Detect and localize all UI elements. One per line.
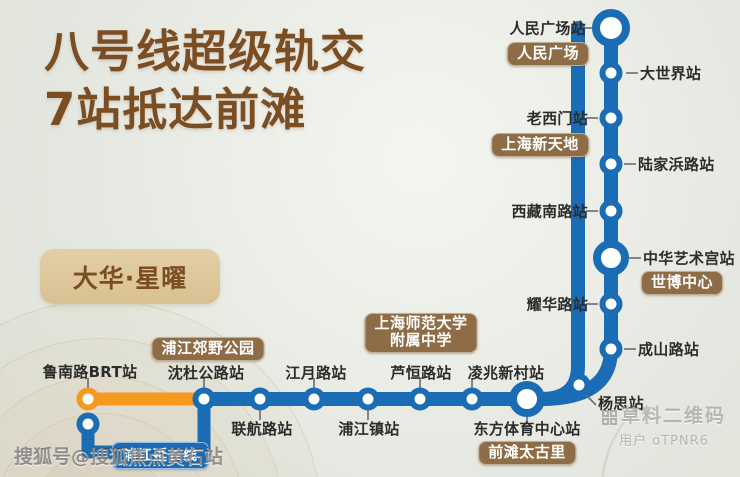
station-label-yaohua-lu: 耀华路站 [527, 294, 588, 315]
station-marker-zhonghua-yishugong [597, 244, 625, 272]
station-label-renmin-guangchang: 人民广场站 [509, 18, 586, 39]
station-marker-dashijie [603, 65, 620, 82]
station-marker-pujiang-zhen [360, 391, 377, 408]
landmark-badge-shida-line1: 上海师范大学 [374, 315, 467, 332]
station-label-zhonghua-yishugong: 中华艺术宫站 [643, 248, 735, 269]
landmark-badge-shida-line2: 附属中学 [374, 332, 467, 349]
station-marker-lianhang-lu [252, 391, 269, 408]
station-label-yangsi: 杨思站 [598, 393, 644, 414]
station-label-lujiabang-lu: 陆家浜路站 [638, 154, 715, 175]
station-label-dashijie: 大世界站 [640, 63, 701, 84]
station-marker-yaohua-lu [603, 296, 620, 313]
landmark-badge-renmin-guangchang: 人民广场 [507, 42, 589, 66]
landmark-badge-pujiang-jiaoye-gongyuan: 浦江郊野公园 [151, 337, 264, 361]
station-marker-yangsi [571, 377, 588, 394]
station-label-lunan-lu-brt: 鲁南路BRT站 [43, 361, 138, 382]
station-marker-lunan-lu-brt [80, 391, 97, 408]
station-marker-shendu-gonglu [196, 391, 213, 408]
station-label-laoximen: 老西门站 [527, 108, 588, 129]
station-label-lianhang-lu: 联航路站 [231, 418, 292, 439]
station-marker-jiangyue-lu [306, 391, 323, 408]
landmark-badge-qiantan-taikooli: 前滩太古里 [478, 441, 576, 465]
station-marker-branch-terminus [80, 416, 97, 433]
project-name-badge: 大华·星曜 [40, 249, 220, 304]
landmark-badge-shibo-zhongxin: 世博中心 [641, 271, 723, 295]
station-marker-dongfang-tiyu-zhongxin [513, 385, 541, 413]
landmark-badge-shida-fuzhong: 上海师范大学 附属中学 [364, 313, 477, 353]
headline-line-1: 八号线超级轨交 [44, 28, 366, 76]
station-label-shendu-gonglu: 沈杜公路站 [168, 362, 245, 383]
station-label-lingzhao-xincun: 凌兆新村站 [468, 362, 545, 383]
station-label-chengshan-lu: 成山路站 [638, 339, 699, 360]
station-label-luheng-lu: 芦恒路站 [390, 362, 451, 383]
branch-line-label: 浦江延长线 [112, 442, 209, 469]
station-label-jiangyue-lu: 江月路站 [285, 362, 346, 383]
headline-line-2: 7站抵达前滩 [44, 86, 366, 134]
station-marker-luheng-lu [412, 391, 429, 408]
station-marker-laoximen [603, 110, 620, 127]
project-name-label: 大华·星曜 [73, 259, 188, 295]
station-label-pujiang-zhen: 浦江镇站 [338, 418, 399, 439]
infographic-canvas: 八号线超级轨交 7站抵达前滩 大华·星曜 [0, 0, 740, 477]
station-marker-lingzhao-xincun [464, 391, 481, 408]
station-marker-lujiabang-lu [603, 156, 620, 173]
station-marker-renmin-guangchang [596, 13, 626, 43]
station-label-xizang-nanlu: 西藏南路站 [511, 201, 588, 222]
station-marker-chengshan-lu [603, 341, 620, 358]
landmark-badge-shanghai-xintiandi: 上海新天地 [491, 133, 589, 157]
headline-block: 八号线超级轨交 7站抵达前滩 [44, 28, 366, 133]
station-label-dongfang-tiyu-zhongxin: 东方体育中心站 [473, 418, 580, 439]
station-marker-xizang-nanlu [603, 203, 620, 220]
